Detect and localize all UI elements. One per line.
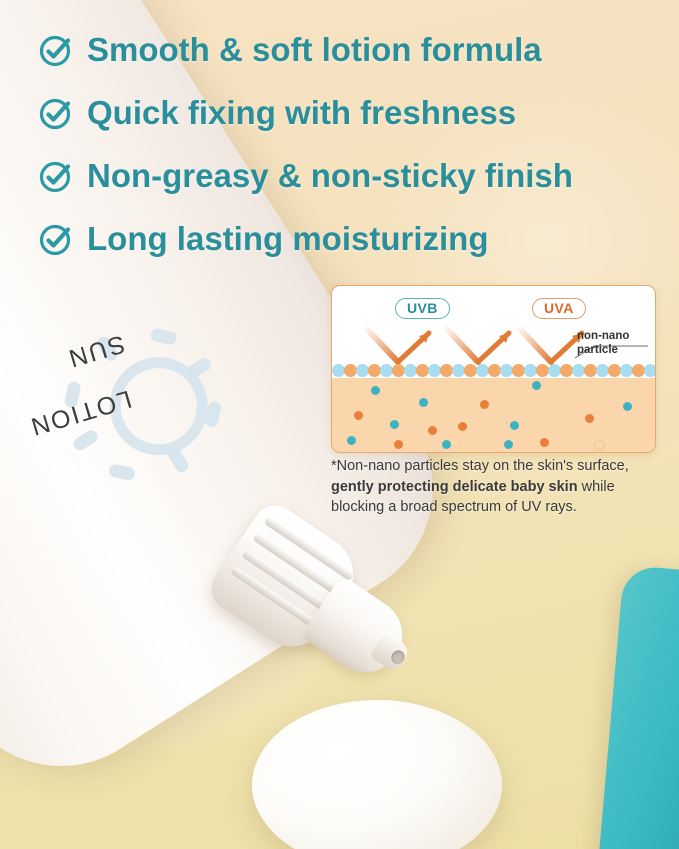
nano-particle <box>428 426 437 435</box>
nano-particle <box>585 414 594 423</box>
uv-ray <box>517 326 582 362</box>
brick <box>364 427 416 438</box>
brick <box>566 442 618 452</box>
check-circle-icon <box>38 158 74 194</box>
brick <box>624 412 655 423</box>
benefit-label: Non-greasy & non-sticky finish <box>87 159 573 192</box>
uv-ray <box>444 326 509 362</box>
check-circle-icon <box>38 95 74 131</box>
brick <box>334 442 386 452</box>
nozzle-opening <box>389 648 408 667</box>
caption-emphasis: gently protecting delicate baby skin <box>331 479 578 495</box>
caption-tail-inline: while <box>578 479 615 495</box>
benefit-label: Quick fixing with freshness <box>87 96 516 129</box>
nano-particle <box>347 436 356 445</box>
tube-cap <box>598 565 679 849</box>
brick <box>392 412 444 423</box>
nano-particle <box>354 411 363 420</box>
benefit-item: Quick fixing with freshness <box>38 89 668 136</box>
nano-particle <box>540 438 549 447</box>
diagram-caption: *Non-nano particles stay on the skin's s… <box>331 456 661 518</box>
nano-particle <box>394 440 403 449</box>
brick <box>480 427 532 438</box>
benefit-label: Smooth & soft lotion formula <box>87 33 542 66</box>
brick <box>538 427 590 438</box>
brick <box>450 442 502 452</box>
brick <box>364 397 416 408</box>
nano-particle-outline <box>594 440 605 451</box>
check-circle-icon <box>38 32 74 68</box>
nozzle-tip <box>369 631 412 674</box>
brick <box>538 397 590 408</box>
brick <box>450 382 502 393</box>
uv-ray <box>364 326 429 362</box>
brick <box>450 412 502 423</box>
brick <box>596 397 648 408</box>
nano-particle <box>504 440 513 449</box>
product-marketing-image: SUN LOTION Smooth & soft lotion formula <box>0 0 679 849</box>
benefit-item: Non-greasy & non-sticky finish <box>38 152 668 199</box>
brick <box>624 442 655 452</box>
nano-particle <box>442 440 451 449</box>
benefits-list: Smooth & soft lotion formula Quick fixin… <box>38 26 668 278</box>
benefit-label: Long lasting moisturizing <box>87 222 488 255</box>
nano-particle <box>371 386 380 395</box>
nano-particle <box>510 421 519 430</box>
skin-cross-section <box>332 362 655 452</box>
nano-particle <box>458 422 467 431</box>
benefit-item: Long lasting moisturizing <box>38 215 668 262</box>
check-circle-icon <box>38 221 74 257</box>
non-nano-particle-band <box>332 363 655 378</box>
uv-protection-diagram: UVB UVA <box>331 285 656 453</box>
nano-particle <box>623 402 632 411</box>
nano-particle <box>419 398 428 407</box>
caption-tail: blocking a broad spectrum of UV rays. <box>331 499 577 515</box>
brick <box>596 427 648 438</box>
benefit-item: Smooth & soft lotion formula <box>38 26 668 73</box>
brick <box>508 442 560 452</box>
nano-particle <box>532 381 541 390</box>
skin-dermis-brick-wall <box>332 378 655 452</box>
non-nano-particle-label: non-nano particle <box>577 330 629 357</box>
nano-particle <box>480 400 489 409</box>
non-nano-particle <box>644 364 656 377</box>
caption-lead: *Non-nano particles stay on the skin's s… <box>331 458 629 474</box>
brick <box>392 382 444 393</box>
brick <box>566 382 618 393</box>
lotion-blob-shadow <box>330 702 460 762</box>
brick <box>624 382 655 393</box>
brick <box>422 397 474 408</box>
brick <box>332 397 358 408</box>
lotion-blob <box>252 700 502 849</box>
nano-particle <box>390 420 399 429</box>
